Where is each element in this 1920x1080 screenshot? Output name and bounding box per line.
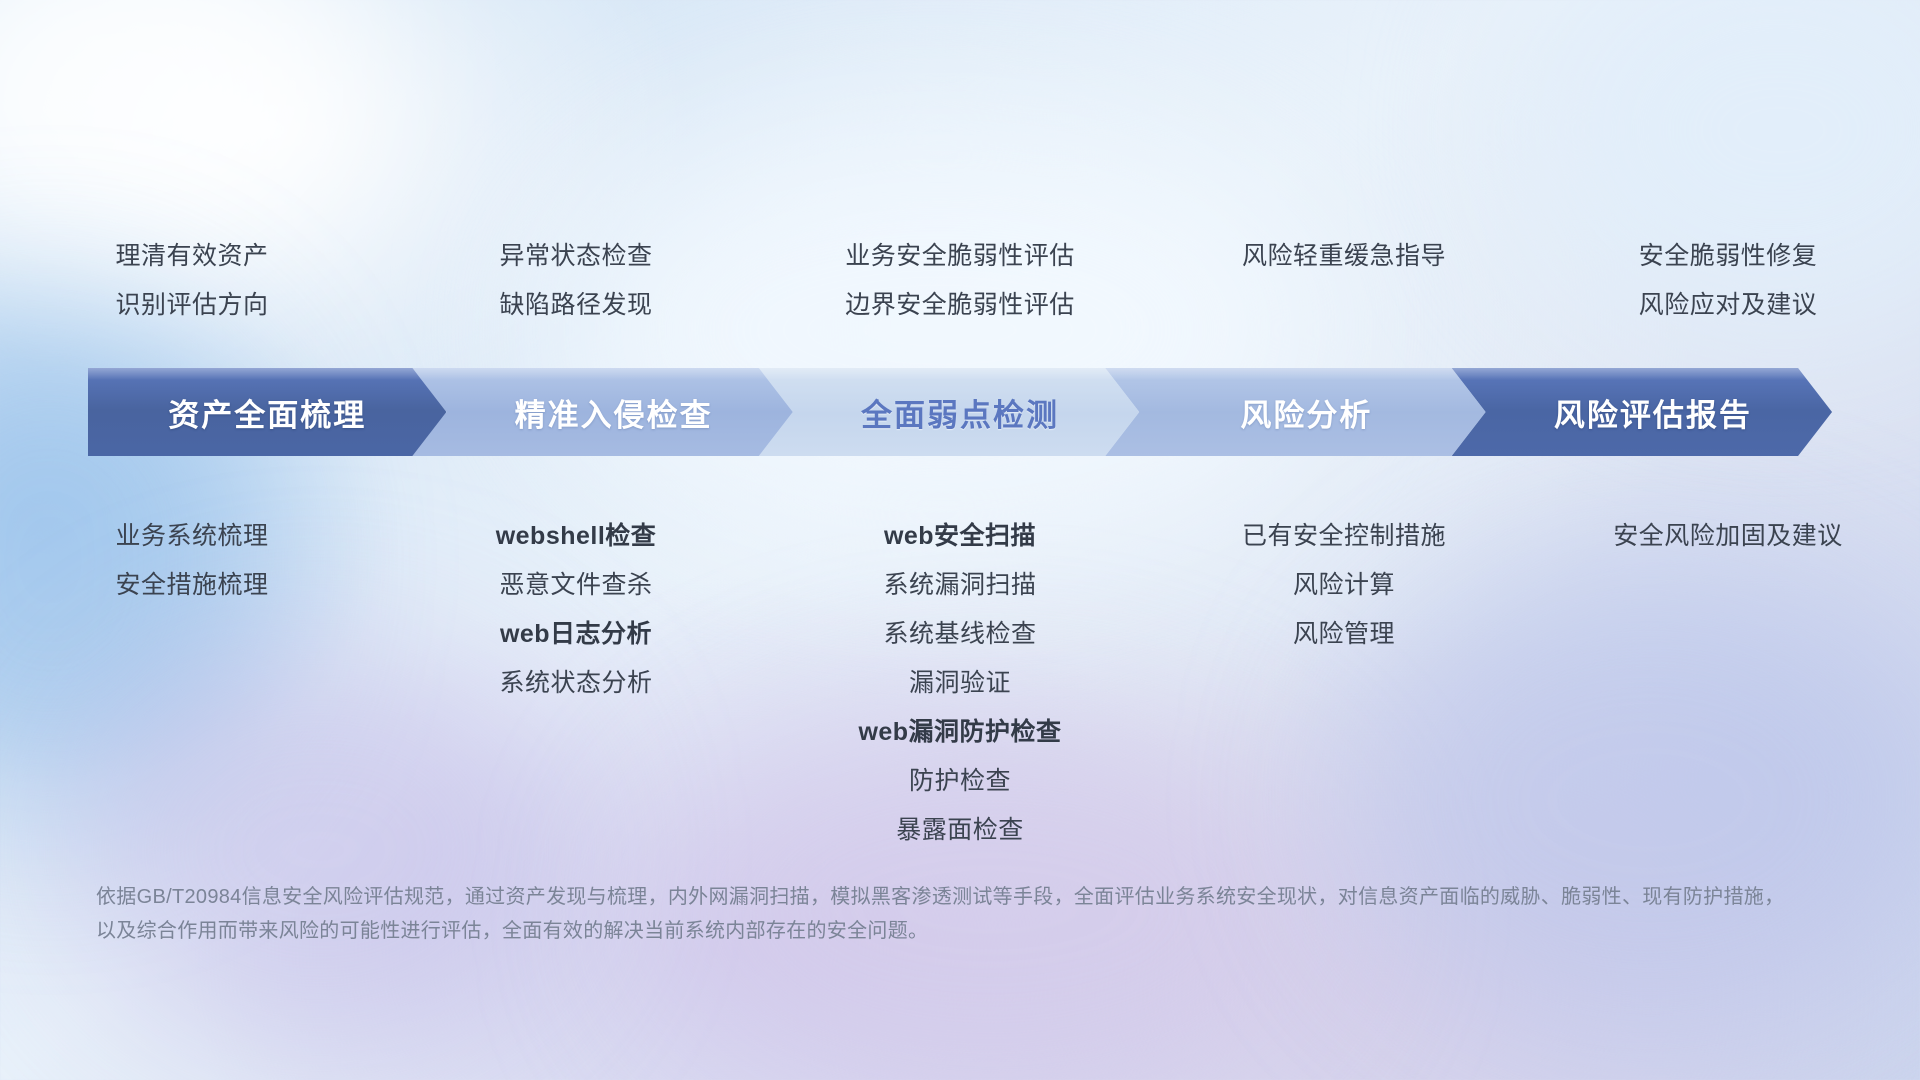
stage-chevron-risk-analysis[interactable]: 风险分析 — [1105, 368, 1485, 456]
stage-activities-weakness-detection: web安全扫描系统漏洞扫描系统基线检查漏洞验证web漏洞防护检查防护检查暴露面检… — [768, 512, 1152, 855]
activity-item: web漏洞防护检查 — [768, 708, 1152, 757]
stage-outcomes-intrusion-check: 异常状态检查缺陷路径发现 — [384, 232, 768, 330]
activity-item: 系统漏洞扫描 — [768, 561, 1152, 610]
stage-chevron-weakness-detection[interactable]: 全面弱点检测 — [759, 368, 1139, 456]
outcome-item: 缺陷路径发现 — [384, 281, 768, 330]
outcome-item: 安全脆弱性修复 — [1536, 232, 1920, 281]
stage-activities-risk-analysis: 已有安全控制措施风险计算风险管理 — [1152, 512, 1536, 659]
outcome-item: 理清有效资产 — [0, 232, 384, 281]
activity-item: 风险管理 — [1152, 610, 1536, 659]
stage-activities-row: 业务系统梳理安全措施梳理webshell检查恶意文件查杀web日志分析系统状态分… — [0, 512, 1920, 855]
process-infographic: 理清有效资产识别评估方向异常状态检查缺陷路径发现业务安全脆弱性评估边界安全脆弱性… — [0, 0, 1920, 1080]
activity-item: webshell检查 — [384, 512, 768, 561]
outcome-item: 识别评估方向 — [0, 281, 384, 330]
stage-chevron-intrusion-check[interactable]: 精准入侵检查 — [412, 368, 792, 456]
stage-title: 精准入侵检查 — [515, 390, 713, 435]
stage-outcomes-weakness-detection: 业务安全脆弱性评估边界安全脆弱性评估 — [768, 232, 1152, 330]
activity-item: 防护检查 — [768, 757, 1152, 806]
activity-item: 漏洞验证 — [768, 659, 1152, 708]
activity-item: 暴露面检查 — [768, 806, 1152, 855]
activity-item: 业务系统梳理 — [0, 512, 384, 561]
outcome-item: 风险轻重缓急指导 — [1152, 232, 1536, 281]
stage-outcomes-assessment-report: 安全脆弱性修复风险应对及建议 — [1536, 232, 1920, 330]
activity-item: 系统基线检查 — [768, 610, 1152, 659]
activity-item: web日志分析 — [384, 610, 768, 659]
activity-item: 恶意文件查杀 — [384, 561, 768, 610]
stage-outcomes-risk-analysis: 风险轻重缓急指导 — [1152, 232, 1536, 330]
stage-activities-intrusion-check: webshell检查恶意文件查杀web日志分析系统状态分析 — [384, 512, 768, 708]
stage-title: 全面弱点检测 — [861, 390, 1059, 435]
stage-title: 风险分析 — [1240, 390, 1372, 435]
activity-item: 已有安全控制措施 — [1152, 512, 1536, 561]
stage-title: 风险评估报告 — [1554, 390, 1752, 435]
process-arrow-banner: 资产全面梳理精准入侵检查全面弱点检测风险分析风险评估报告 — [88, 368, 1832, 456]
activity-item: web安全扫描 — [768, 512, 1152, 561]
stage-activities-asset-inventory: 业务系统梳理安全措施梳理 — [0, 512, 384, 610]
stage-activities-assessment-report: 安全风险加固及建议 — [1536, 512, 1920, 561]
stage-chevron-assessment-report[interactable]: 风险评估报告 — [1452, 368, 1832, 456]
stage-outcomes-row: 理清有效资产识别评估方向异常状态检查缺陷路径发现业务安全脆弱性评估边界安全脆弱性… — [0, 232, 1920, 330]
outcome-item: 风险应对及建议 — [1536, 281, 1920, 330]
footer-description: 依据GB/T20984信息安全风险评估规范，通过资产发现与梳理，内外网漏洞扫描，… — [96, 880, 1800, 948]
stage-outcomes-asset-inventory: 理清有效资产识别评估方向 — [0, 232, 384, 330]
outcome-item: 边界安全脆弱性评估 — [768, 281, 1152, 330]
stage-title: 资产全面梳理 — [168, 390, 366, 435]
activity-item: 风险计算 — [1152, 561, 1536, 610]
outcome-item: 业务安全脆弱性评估 — [768, 232, 1152, 281]
activity-item: 安全措施梳理 — [0, 561, 384, 610]
outcome-item: 异常状态检查 — [384, 232, 768, 281]
activity-item: 安全风险加固及建议 — [1536, 512, 1920, 561]
stage-chevron-asset-inventory[interactable]: 资产全面梳理 — [88, 368, 446, 456]
activity-item: 系统状态分析 — [384, 659, 768, 708]
